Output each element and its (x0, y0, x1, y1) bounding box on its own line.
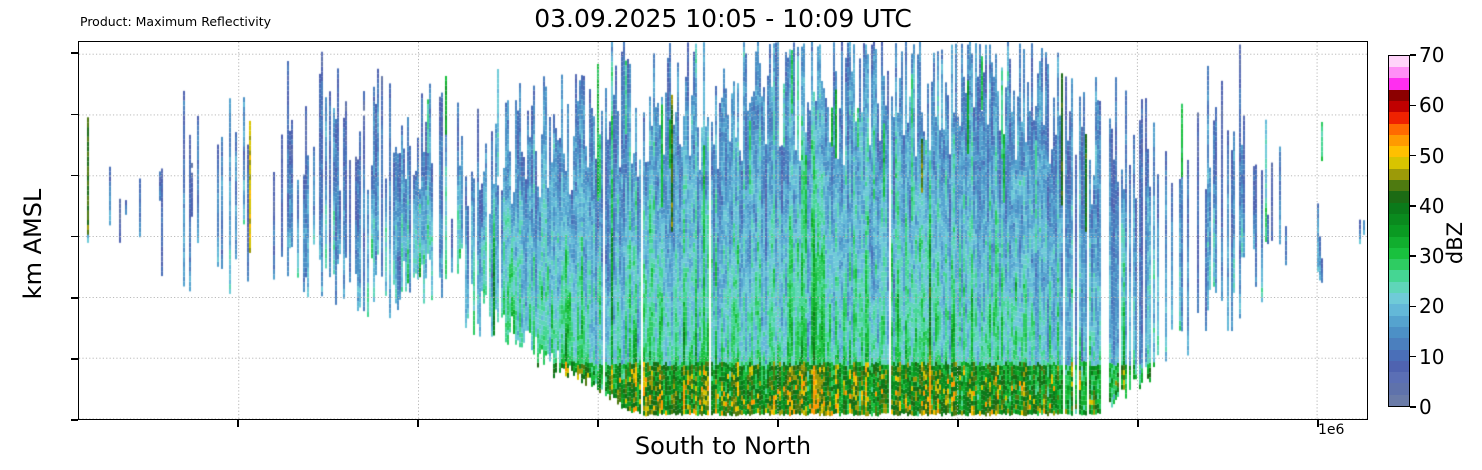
colorbar-tick-label: 40 (1419, 194, 1444, 218)
x-axis-offset-text: 1e6 (1318, 422, 1344, 438)
colorbar-tick-label: 50 (1419, 144, 1444, 168)
colorbar-band (1389, 203, 1409, 214)
colorbar-band (1389, 259, 1409, 270)
colorbar-band (1389, 316, 1409, 327)
x-tick-mark (597, 420, 599, 427)
colorbar-band (1389, 191, 1409, 202)
colorbar-band (1389, 361, 1409, 372)
colorbar-band (1389, 383, 1409, 394)
x-axis-label: South to North (78, 432, 1368, 460)
y-tick-mark (71, 175, 78, 177)
plot-area (78, 41, 1368, 420)
y-tick-mark (71, 114, 78, 116)
colorbar-band (1389, 56, 1409, 67)
colorbar-band (1389, 338, 1409, 349)
colorbar-tick-mark (1410, 105, 1416, 106)
colorbar-tick-mark (1410, 205, 1416, 206)
y-tick-mark (71, 297, 78, 299)
colorbar-band (1389, 327, 1409, 338)
radar-curtain-figure: 03.09.2025 10:05 - 10:09 UTC Product: Ma… (0, 0, 1482, 470)
page-title: 03.09.2025 10:05 - 10:09 UTC (78, 4, 1368, 33)
colorbar-band (1389, 350, 1409, 361)
colorbar-tick-mark (1410, 406, 1416, 407)
colorbar-band (1389, 225, 1409, 236)
colorbar-gradient (1388, 55, 1410, 407)
y-tick-mark (71, 419, 78, 421)
colorbar-band (1389, 101, 1409, 112)
colorbar-band (1389, 214, 1409, 225)
colorbar: 010203040506070 (1388, 55, 1410, 407)
y-tick-mark (71, 236, 78, 238)
colorbar-tick-label: 10 (1419, 345, 1444, 369)
colorbar-band (1389, 90, 1409, 101)
x-tick-mark (237, 420, 239, 427)
colorbar-band (1389, 169, 1409, 180)
colorbar-band (1389, 67, 1409, 78)
colorbar-band (1389, 248, 1409, 259)
colorbar-tick-label: 0 (1419, 395, 1432, 419)
colorbar-tick-label: 30 (1419, 244, 1444, 268)
colorbar-band (1389, 270, 1409, 281)
x-tick-mark (417, 420, 419, 427)
colorbar-label: dBZ (1443, 222, 1467, 264)
colorbar-band (1389, 146, 1409, 157)
colorbar-tick-mark (1410, 356, 1416, 357)
colorbar-tick-label: 60 (1419, 93, 1444, 117)
reflectivity-heatmap-canvas (79, 42, 1368, 420)
colorbar-band (1389, 78, 1409, 89)
y-axis-label: km AMSL (19, 114, 47, 374)
y-tick-mark (71, 52, 78, 54)
colorbar-band (1389, 372, 1409, 383)
colorbar-band (1389, 237, 1409, 248)
colorbar-tick-mark (1410, 155, 1416, 156)
colorbar-band (1389, 180, 1409, 191)
colorbar-tick-label: 20 (1419, 294, 1444, 318)
x-tick-mark (957, 420, 959, 427)
x-tick-mark (777, 420, 779, 427)
colorbar-band (1389, 395, 1409, 406)
colorbar-band (1389, 282, 1409, 293)
colorbar-tick-mark (1410, 306, 1416, 307)
colorbar-tick-mark (1410, 54, 1416, 55)
colorbar-band (1389, 293, 1409, 304)
colorbar-band (1389, 124, 1409, 135)
colorbar-band (1389, 135, 1409, 146)
colorbar-band (1389, 157, 1409, 168)
colorbar-band (1389, 112, 1409, 123)
x-tick-mark (1137, 420, 1139, 427)
y-tick-mark (71, 358, 78, 360)
colorbar-band (1389, 304, 1409, 315)
colorbar-tick-mark (1410, 255, 1416, 256)
colorbar-tick-label: 70 (1419, 43, 1444, 67)
product-annotation: Product: Maximum Reflectivity (80, 14, 271, 29)
